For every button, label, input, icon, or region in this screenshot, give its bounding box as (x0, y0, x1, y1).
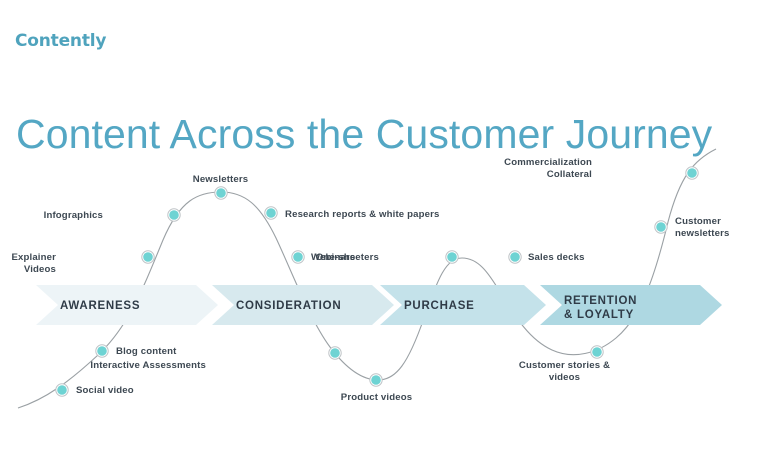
node-label-one-sheeters: One-sheeters (0, 252, 379, 264)
node-dot-customer-stories[interactable] (592, 347, 602, 357)
node-label-customer-newsletters: Customer newsletters (675, 216, 729, 239)
node-dot-infographics[interactable] (169, 210, 179, 220)
node-dot-commercialization[interactable] (687, 168, 697, 178)
node-dot-customer-newsletters[interactable] (656, 222, 666, 232)
node-dot-research-reports[interactable] (266, 208, 276, 218)
stage-label-consideration: CONSIDERATION (236, 299, 341, 313)
node-label-infographics: Infographics (0, 210, 103, 222)
stage-label-awareness: AWARENESS (60, 299, 140, 313)
node-label-commercialization: Commercialization Collateral (0, 157, 592, 180)
node-dot-product-videos[interactable] (371, 375, 381, 385)
node-dot-sales-decks[interactable] (510, 252, 520, 262)
stage-label-purchase: PURCHASE (404, 299, 475, 313)
node-dot-one-sheeters[interactable] (447, 252, 457, 262)
node-label-blog-content: Blog content (116, 346, 176, 358)
node-dot-blog-content[interactable] (97, 346, 107, 356)
node-label-interactive-assessments: Interactive Assessments (0, 360, 206, 372)
node-dot-interactive-assessments[interactable] (330, 348, 340, 358)
stage-label-retention: RETENTION & LOYALTY (564, 294, 637, 322)
node-dot-social-video[interactable] (57, 385, 67, 395)
node-label-sales-decks: Sales decks (528, 252, 585, 264)
node-dot-newsletters[interactable] (216, 188, 226, 198)
node-label-customer-stories: Customer stories & videos (512, 360, 617, 383)
node-label-research-reports: Research reports & white papers (285, 209, 439, 221)
infographic-canvas: Contently Content Across the Customer Jo… (0, 0, 780, 470)
node-label-social-video: Social video (76, 385, 134, 397)
node-label-product-videos: Product videos (324, 392, 429, 404)
